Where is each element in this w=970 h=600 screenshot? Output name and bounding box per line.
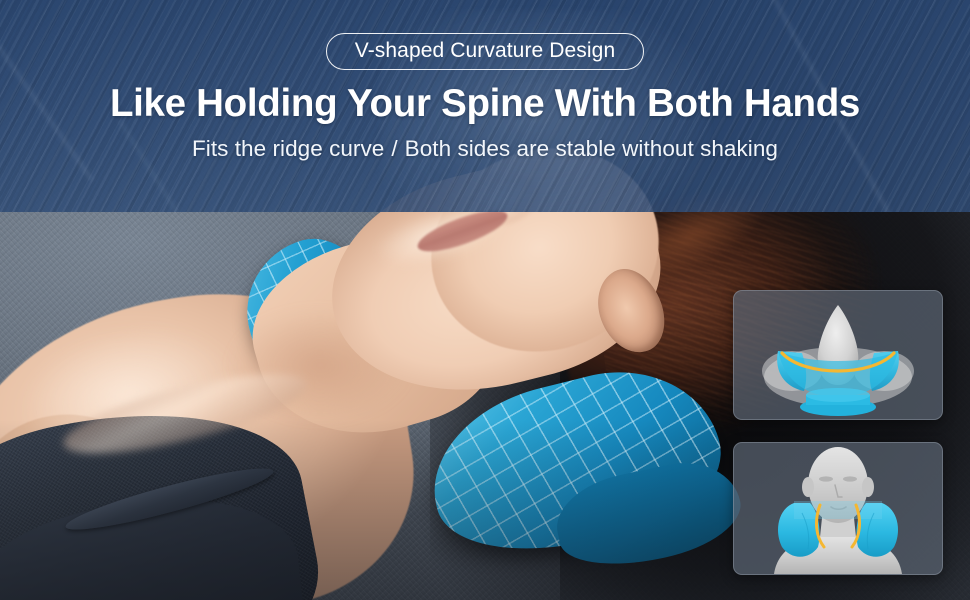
- subheadline-right: Both sides are stable without shaking: [405, 136, 778, 161]
- subheadline: Fits the ridge curve/Both sides are stab…: [192, 138, 778, 161]
- headline: Like Holding Your Spine With Both Hands: [110, 84, 860, 125]
- inset-panel-side-profile: [733, 290, 943, 420]
- header-band: V-shaped Curvature Design Like Holding Y…: [0, 0, 970, 212]
- subheadline-separator: /: [384, 136, 404, 161]
- side-profile-illustration: [734, 291, 942, 419]
- front-view-illustration: [734, 443, 942, 574]
- inset-panel-front-view: [733, 442, 943, 575]
- subheadline-left: Fits the ridge curve: [192, 136, 384, 161]
- feature-badge: V-shaped Curvature Design: [326, 33, 644, 70]
- product-banner: V-shaped Curvature Design Like Holding Y…: [0, 0, 970, 600]
